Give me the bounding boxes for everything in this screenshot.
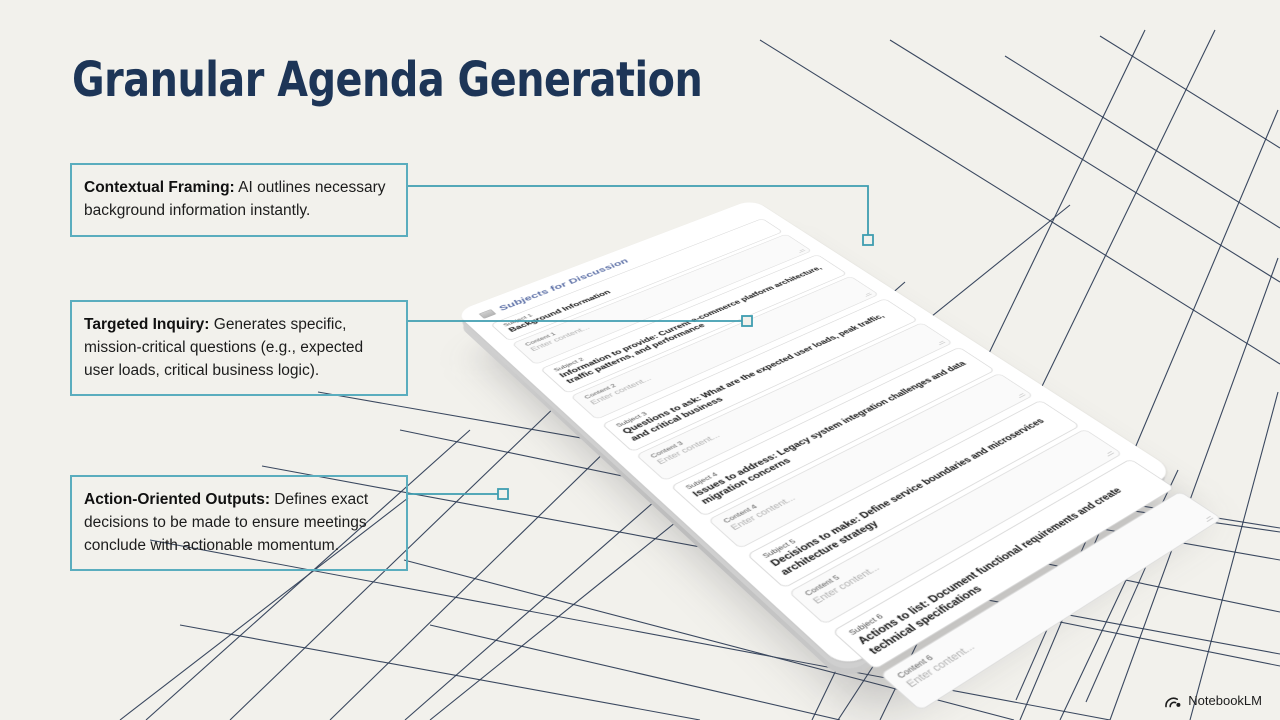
agenda-card-scene: Subjects for Discussion Subject 1Backgro…	[404, 96, 1164, 656]
resize-handle-icon[interactable]	[1201, 514, 1215, 523]
callout-lead-3: Action-Oriented Outputs:	[84, 491, 270, 508]
callout-action-oriented-outputs: Action-Oriented Outputs: Defines exact d…	[70, 475, 408, 571]
resize-handle-icon[interactable]	[1014, 391, 1026, 398]
resize-handle-icon[interactable]	[862, 291, 873, 297]
slide-canvas: Granular Agenda Generation Subjects for …	[0, 0, 1280, 720]
agenda-card: Subjects for Discussion Subject 1Backgro…	[455, 199, 1175, 669]
notebooklm-label: NotebookLM	[1188, 693, 1262, 708]
callout-contextual-framing: Contextual Framing: AI outlines necessar…	[70, 163, 408, 237]
callout-targeted-inquiry: Targeted Inquiry: Generates specific, mi…	[70, 300, 408, 396]
notebooklm-icon	[1165, 694, 1182, 708]
card-surface: Subjects for Discussion Subject 1Backgro…	[455, 199, 1175, 669]
notebooklm-brand: NotebookLM	[1165, 693, 1262, 708]
resize-handle-icon[interactable]	[795, 248, 805, 253]
subject-list: Subject 1Background InformationContent 1…	[490, 218, 1222, 711]
document-icon	[479, 309, 497, 319]
resize-handle-icon[interactable]	[1103, 449, 1116, 457]
callout-lead-1: Contextual Framing:	[84, 179, 235, 196]
callout-lead-2: Targeted Inquiry:	[84, 316, 209, 333]
resize-handle-icon[interactable]	[934, 339, 945, 345]
